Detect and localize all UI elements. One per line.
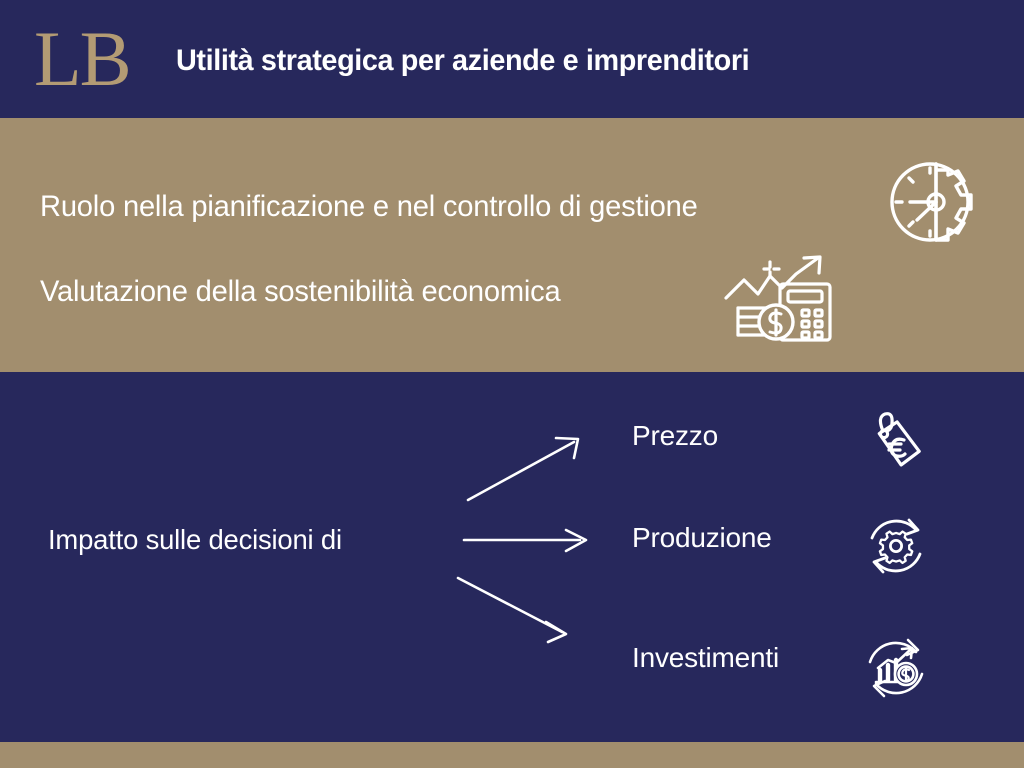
brand-logo: LB [34, 23, 144, 95]
outcome-row: Investimenti [632, 634, 1012, 694]
clock-gear-icon [884, 150, 988, 254]
slide-canvas: LB Utilità strategica per aziende e impr… [0, 0, 1024, 768]
outcome-row: Produzione [632, 514, 1012, 574]
arrow-down-right [458, 578, 566, 642]
growth-calculator-coins-icon [722, 250, 840, 348]
gear-cycle-icon [860, 510, 932, 582]
arrow-fan-group [450, 420, 610, 660]
arrow-right [464, 530, 586, 551]
arrow-up-right [468, 438, 578, 500]
outcome-label-investimenti: Investimenti [632, 642, 779, 674]
price-tag-euro-icon [860, 408, 932, 480]
growth-chart-dollar-cycle-icon [860, 632, 932, 704]
tan-line-planning-control: Ruolo nella pianificazione e nel control… [40, 190, 698, 224]
outcome-label-produzione: Produzione [632, 522, 772, 554]
tan-band [0, 118, 1024, 372]
impact-source-label: Impatto sulle decisioni di [48, 524, 342, 556]
page-title: Utilità strategica per aziende e imprend… [176, 44, 749, 78]
outcome-row: Prezzo [632, 412, 1012, 472]
footer-band [0, 742, 1024, 768]
outcome-label-prezzo: Prezzo [632, 420, 718, 452]
tan-line-economic-sustainability: Valutazione della sostenibilità economic… [40, 275, 560, 309]
